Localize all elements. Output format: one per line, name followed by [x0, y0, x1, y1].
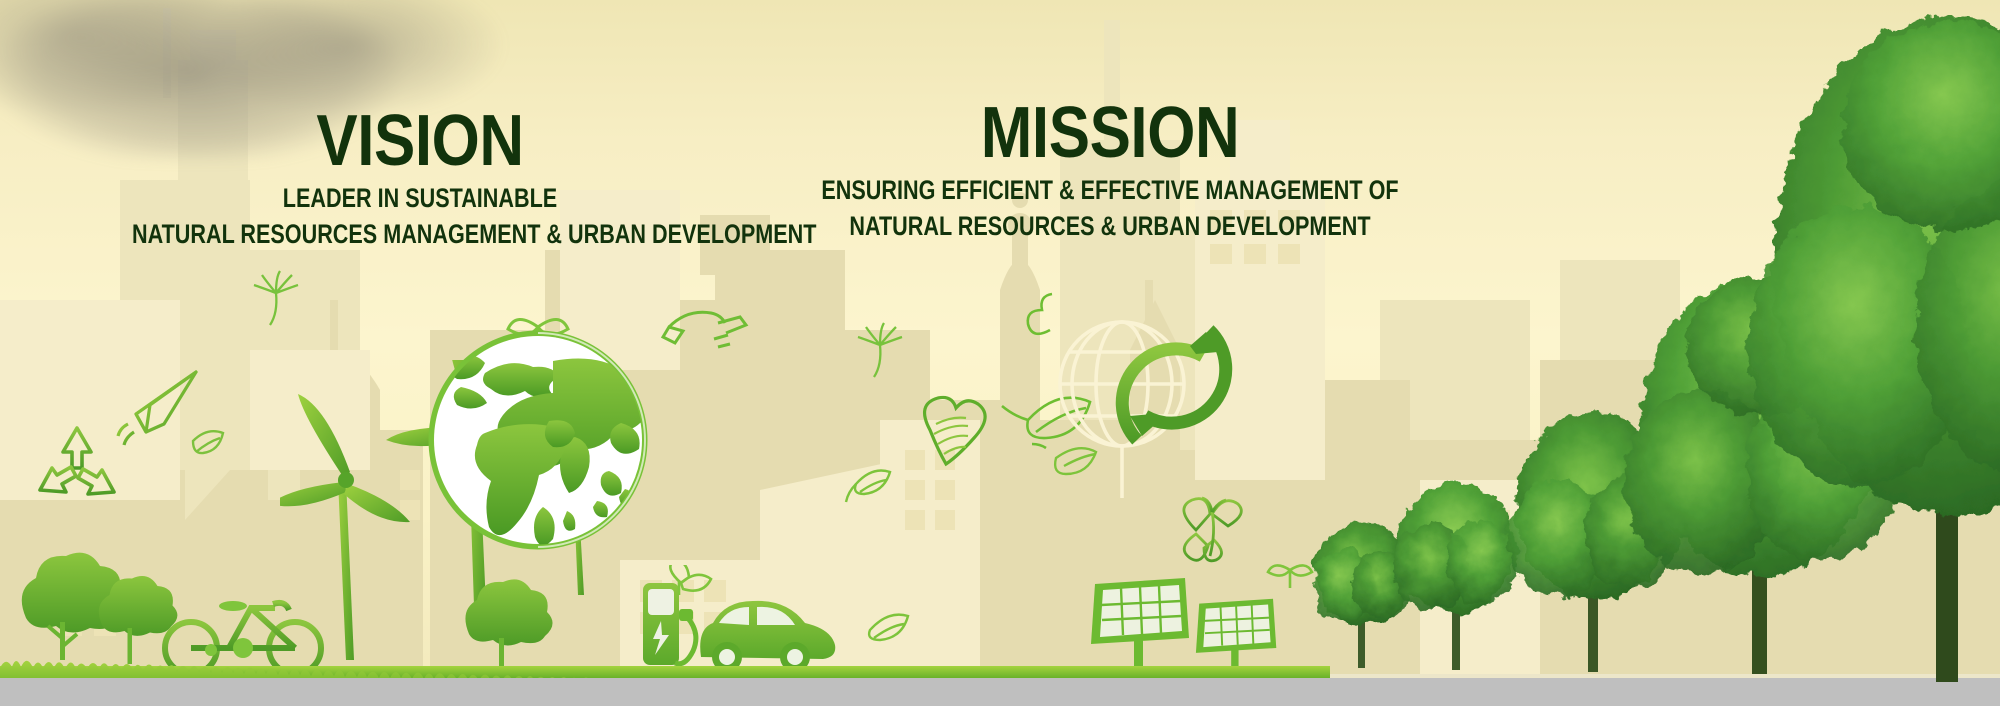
recycle-triangle-icon [40, 428, 114, 494]
photo-tree-icon [1312, 522, 1412, 668]
heart-leaf-icon [925, 397, 986, 464]
butterfly-icon [1184, 498, 1241, 561]
watering-can-icon [663, 312, 746, 347]
earth-globe-icon [425, 275, 655, 555]
photo-tree-icon [1748, 16, 2000, 682]
leaf-doodle-icon [1055, 448, 1096, 474]
photo-tree-icon [1394, 482, 1518, 670]
leaf-doodle-icon [193, 431, 223, 453]
eco-vision-mission-banner: VISION LEADER IN SUSTAINABLE NATURAL RES… [0, 0, 2000, 706]
mission-title: MISSION [757, 100, 1462, 166]
vision-subtitle-line-1: LEADER IN SUSTAINABLE [132, 182, 708, 214]
vision-text-block: VISION LEADER IN SUSTAINABLE NATURAL RES… [60, 108, 780, 250]
mission-text-block: MISSION ENSURING EFFICIENT & EFFECTIVE M… [700, 100, 1520, 242]
grass-strip [0, 654, 1330, 680]
paper-plane-icon [118, 372, 196, 445]
mission-subtitle-line-1: ENSURING EFFICIENT & EFFECTIVE MANAGEMEN… [782, 174, 1438, 206]
mission-subtitle-line-2: NATURAL RESOURCES & URBAN DEVELOPMENT [782, 210, 1438, 242]
dandelion-icon [858, 323, 902, 377]
vision-subtitle-line-2: NATURAL RESOURCES MANAGEMENT & URBAN DEV… [132, 218, 708, 250]
dandelion-icon [254, 271, 298, 325]
leaf-doodle-icon [846, 471, 890, 503]
vision-title: VISION [110, 108, 729, 174]
